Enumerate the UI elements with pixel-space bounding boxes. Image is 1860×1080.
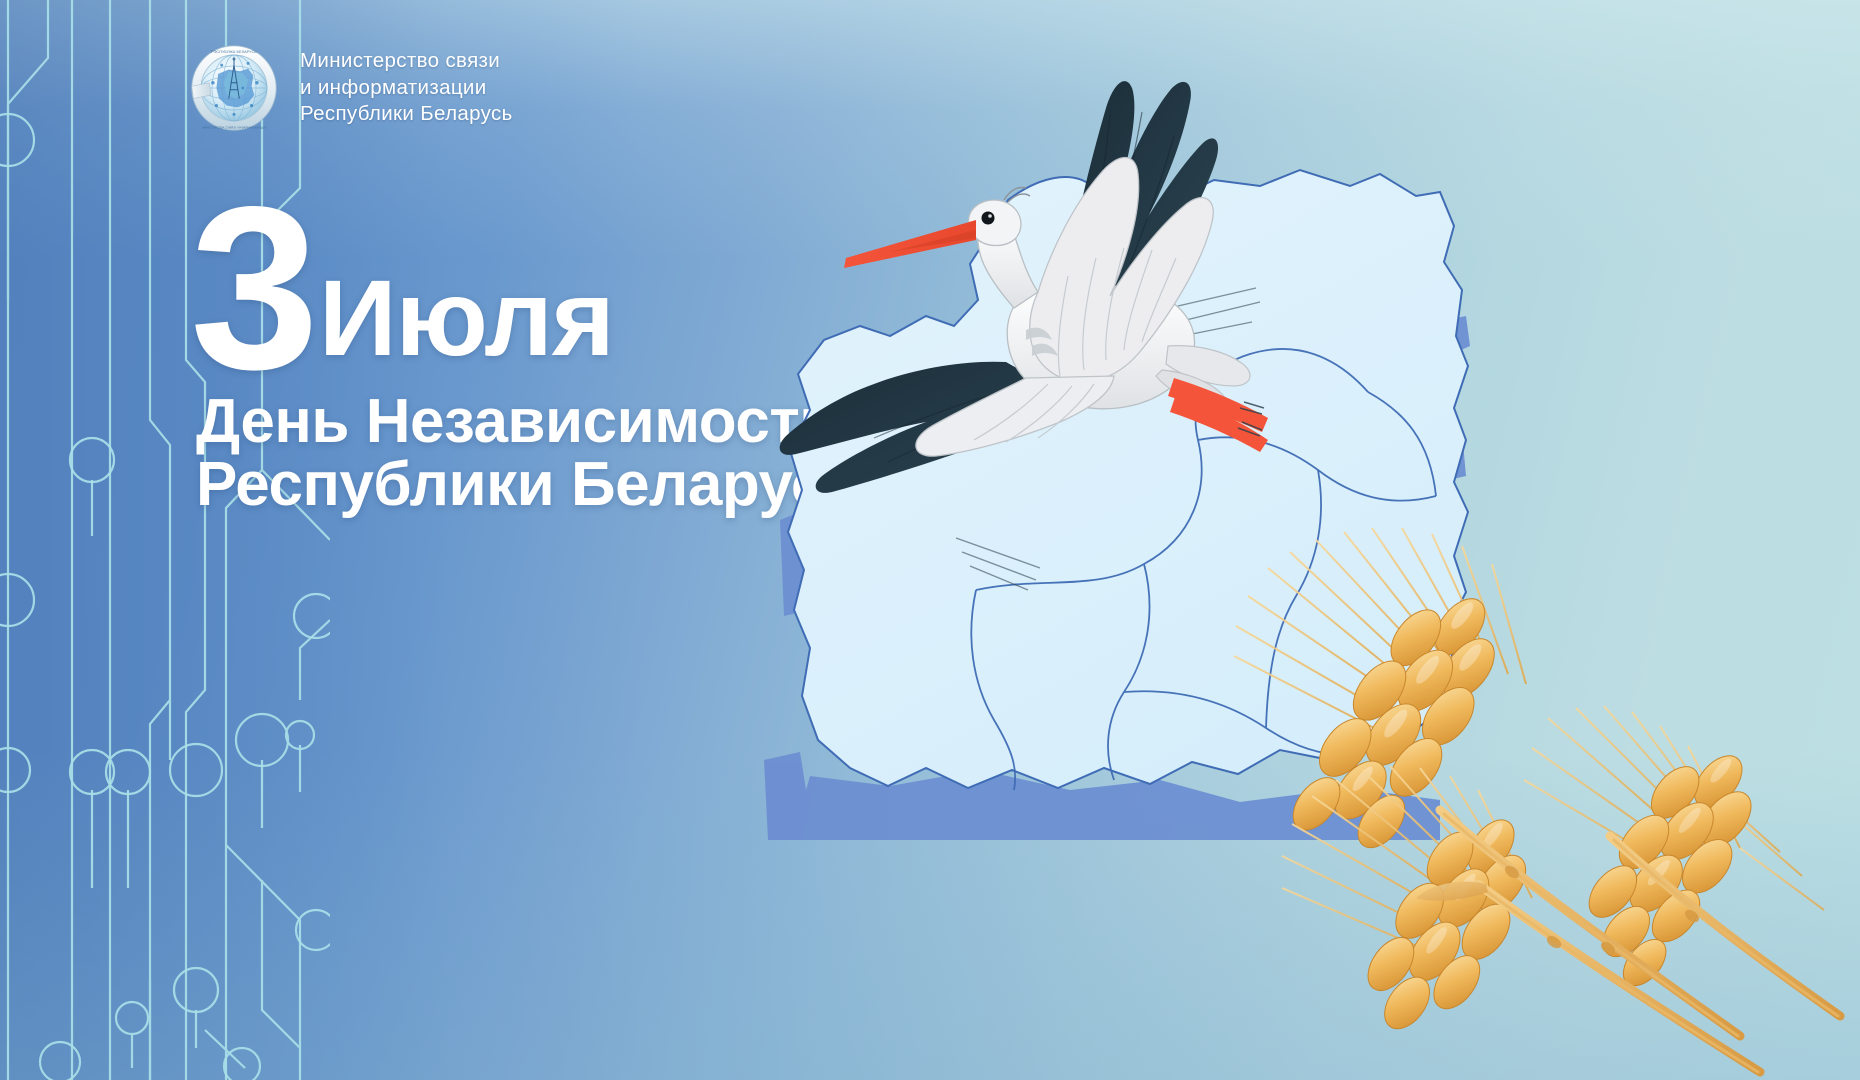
poster-canvas: РЭСПУБЛIКА БЕЛАРУСЬ МIНIСТЭРСТВА СУВЯЗI …	[0, 0, 1860, 1080]
white-stork	[770, 78, 1330, 498]
ministry-line-3: Республики Беларусь	[300, 101, 513, 128]
wheat-ears	[1140, 480, 1860, 1080]
ministry-emblem-icon: РЭСПУБЛIКА БЕЛАРУСЬ МIНIСТЭРСТВА СУВЯЗI …	[190, 44, 278, 132]
ministry-line-1: Министерство связи	[300, 48, 513, 75]
ministry-header: РЭСПУБЛIКА БЕЛАРУСЬ МIНIСТЭРСТВА СУВЯЗI …	[190, 44, 513, 132]
svg-text:РЭСПУБЛIКА БЕЛАРУСЬ: РЭСПУБЛIКА БЕЛАРУСЬ	[211, 49, 257, 54]
ministry-name: Министерство связи и информатизации Респ…	[300, 48, 513, 128]
month-name: Июля	[319, 268, 614, 381]
svg-text:МIНIСТЭРСТВА СУВЯЗI I IНФАРМАТ: МIНIСТЭРСТВА СУВЯЗI I IНФАРМАТЫЗАЦЫI	[202, 125, 265, 129]
day-number: 3	[190, 196, 313, 382]
ministry-line-2: и информатизации	[300, 75, 513, 102]
